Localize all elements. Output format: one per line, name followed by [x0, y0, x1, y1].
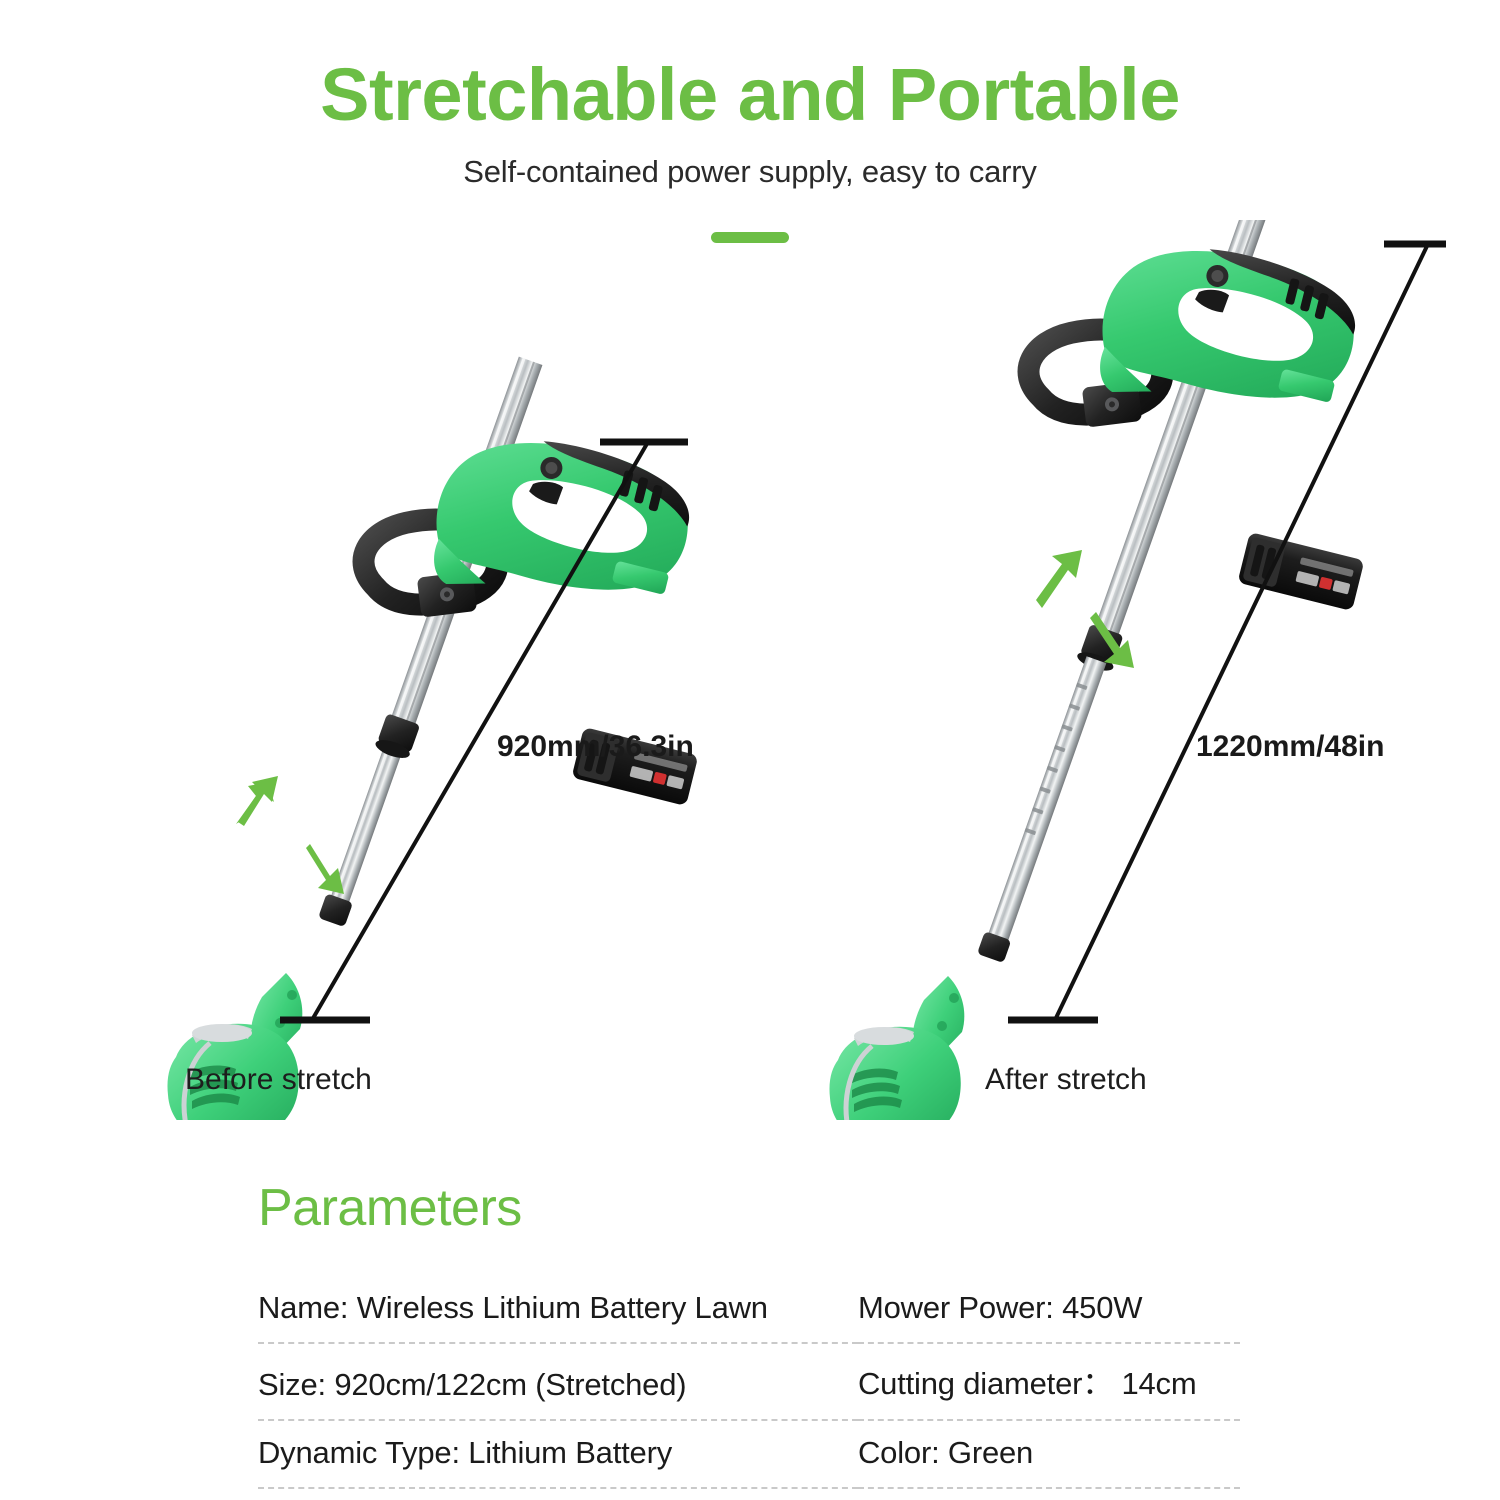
param-dynamic-label: Dynamic Type: Lithium Battery [258, 1420, 858, 1488]
param-cutting-label: Cutting diameter： 14cm [858, 1343, 1240, 1420]
table-row: Name: Wireless Lithium Battery Lawn Mowe… [258, 1276, 1240, 1343]
caption-before-stretch: Before stretch [185, 1063, 372, 1097]
table-row: Dynamic Type: Lithium Battery Color: Gre… [258, 1420, 1240, 1488]
param-name-label: Name: Wireless Lithium Battery Lawn [258, 1276, 858, 1343]
page-title: Stretchable and Portable [0, 0, 1500, 132]
product-infographic: Stretchable and Portable Self-contained … [0, 0, 1500, 1500]
parameters-section: Parameters Name: Wireless Lithium Batter… [258, 1178, 1258, 1489]
dimension-label-before-stretch: 920mm/36.3in [497, 730, 694, 764]
dimension-label-after-stretch: 1220mm/48in [1196, 730, 1384, 764]
page-subtitle: Self-contained power supply, easy to car… [0, 132, 1500, 190]
header: Stretchable and Portable Self-contained … [0, 0, 1500, 243]
parameters-table: Name: Wireless Lithium Battery Lawn Mowe… [258, 1276, 1240, 1489]
parameters-heading: Parameters [258, 1178, 1258, 1238]
param-power-label: Mower Power: 450W [858, 1276, 1240, 1343]
caption-after-stretch: After stretch [985, 1063, 1147, 1097]
dimension-line-after-stretch [980, 222, 1450, 1062]
table-row: Size: 920cm/122cm (Stretched) Cutting di… [258, 1343, 1240, 1420]
param-color-label: Color: Green [858, 1420, 1240, 1488]
param-size-label: Size: 920cm/122cm (Stretched) [258, 1343, 858, 1420]
